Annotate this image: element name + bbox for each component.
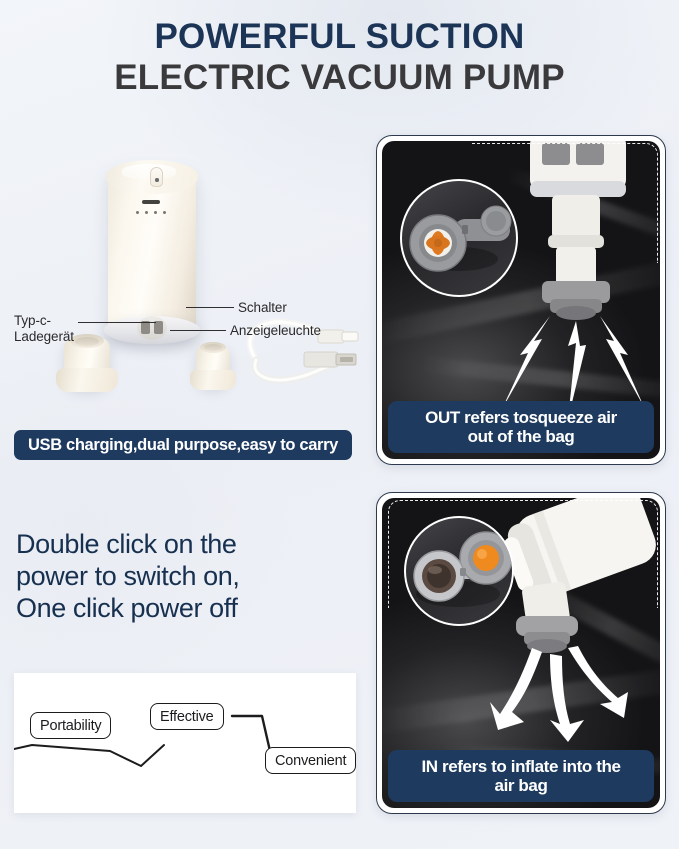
page-title: POWERFUL SUCTION ELECTRIC VACUUM PUMP [0, 16, 679, 99]
product-photo-area: Typ-c- Ladegerät Schalter Anzeigeleuchte [0, 120, 368, 420]
power-instruction-headline: Double click on the power to switch on, … [16, 528, 356, 624]
large-nozzle-flare-icon [56, 368, 118, 392]
label-switch: Schalter [238, 300, 287, 316]
valve-inset-in [404, 516, 514, 626]
flow-box-portability: Portability [30, 712, 111, 739]
small-nozzle-flare-icon [190, 370, 236, 390]
flow-box-convenient: Convenient [265, 747, 356, 774]
leader-line-switch [186, 307, 234, 308]
panel-out-suction: OUT refers tosqueeze air out of the bag [376, 135, 666, 465]
usb-c-port-icon [142, 200, 160, 204]
pump-top-highlight [122, 164, 176, 180]
title-line-2: ELECTRIC VACUUM PUMP [0, 57, 679, 98]
flow-box-effective: Effective [150, 703, 224, 730]
usb-charging-banner: USB charging,dual purpose,easy to carry [14, 430, 352, 460]
photo-in-inflate: IN refers to inflate into the air bag [382, 498, 660, 808]
indicator-lights-icon [136, 211, 166, 214]
label-indicator-light: Anzeigeleuchte [230, 323, 321, 339]
title-line-1: POWERFUL SUCTION [0, 16, 679, 57]
benefits-flow-card [14, 673, 356, 813]
panel-in-inflate: IN refers to inflate into the air bag [376, 492, 666, 814]
pump-air-vent-icon [137, 316, 167, 340]
label-charger: Typ-c- Ladegerät [14, 313, 74, 346]
open-valve-icon [402, 181, 518, 297]
valve-inset-out [400, 179, 518, 297]
large-nozzle-opening-icon [75, 337, 99, 346]
infographic-page: POWERFUL SUCTION ELECTRIC VACUUM PUMP [0, 0, 679, 849]
photo-out-suction: OUT refers tosqueeze air out of the bag [382, 141, 660, 459]
leader-line-indicator [170, 330, 226, 331]
small-nozzle-opening-icon [204, 344, 222, 351]
valve-caps-icon [406, 518, 514, 626]
flow-connector-lines [14, 673, 356, 813]
power-switch-icon [150, 167, 163, 187]
power-switch-dot-icon [155, 178, 159, 182]
leader-line-charger [78, 322, 156, 323]
caption-in: IN refers to inflate into the air bag [388, 750, 654, 802]
caption-out: OUT refers tosqueeze air out of the bag [388, 401, 654, 453]
